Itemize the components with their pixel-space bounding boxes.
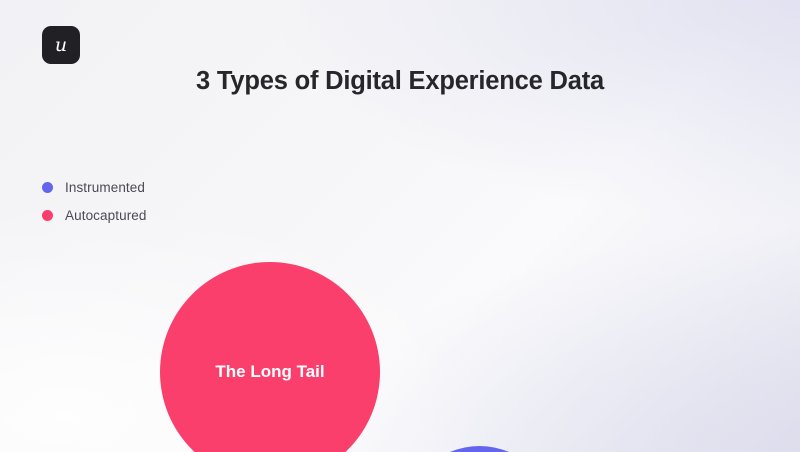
- legend-label-instrumented: Instrumented: [65, 180, 145, 195]
- page-title: 3 Types of Digital Experience Data: [0, 67, 800, 96]
- bubble-core-events: Core Events and Properties: [404, 446, 555, 452]
- legend-label-autocaptured: Autocaptured: [65, 208, 147, 223]
- legend-item-autocaptured: Autocaptured: [42, 208, 800, 223]
- bubble-long-tail-label: The Long Tail: [215, 362, 324, 383]
- bubble-long-tail: The Long Tail: [160, 262, 380, 452]
- logo-mark-icon: u: [55, 36, 67, 55]
- legend-item-instrumented: Instrumented: [42, 180, 800, 195]
- legend: Instrumented Autocaptured: [42, 180, 800, 223]
- legend-dot-icon-autocaptured: [42, 210, 53, 221]
- legend-dot-icon-instrumented: [42, 182, 53, 193]
- infographic-canvas: u 3 Types of Digital Experience Data Ins…: [0, 0, 800, 452]
- userpilot-logo: u: [42, 26, 80, 64]
